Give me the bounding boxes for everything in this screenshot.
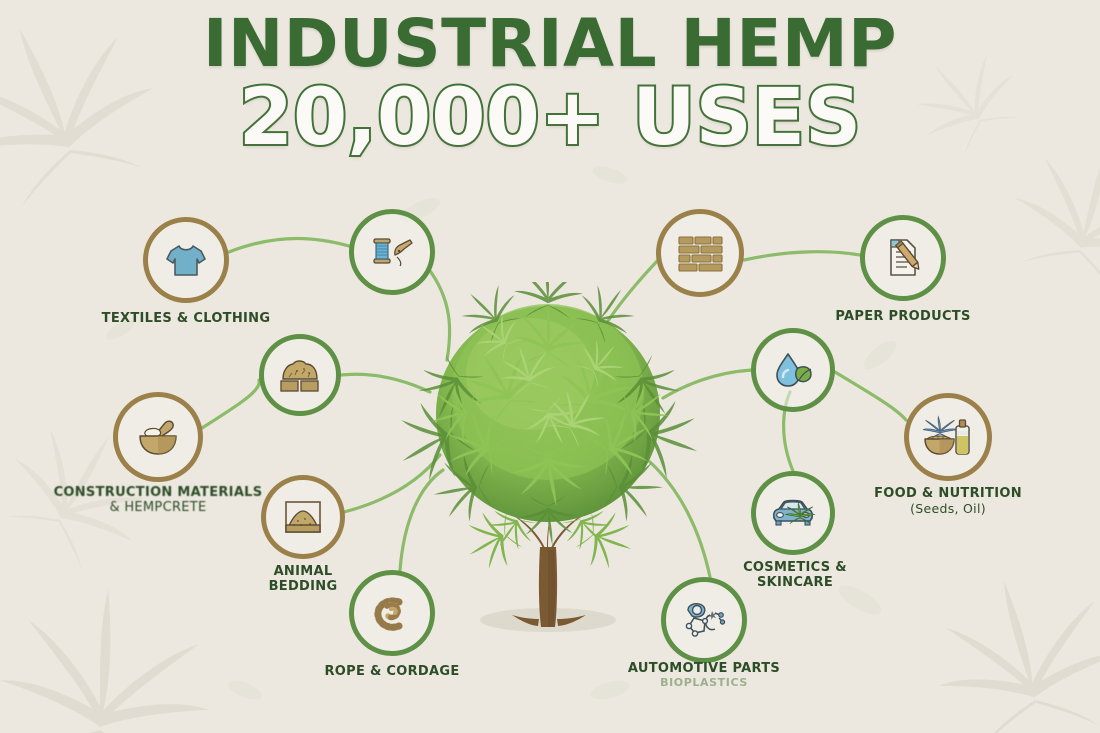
food-sublabel: (Seeds, Oil) xyxy=(828,502,1068,516)
automotive-label: AUTOMOTIVE PARTS BIOPLASTICS xyxy=(579,662,829,690)
water-drop-leaf-icon xyxy=(768,346,818,394)
textiles-label: TEXTILES & CLOTHING xyxy=(56,312,316,327)
rope-label: ROPE & CORDAGE xyxy=(277,665,507,680)
cosmetics-ring[interactable] xyxy=(751,471,835,555)
hempcrete-block-icon xyxy=(275,353,325,397)
paper-ring[interactable] xyxy=(860,215,946,301)
animal-bedding-ring[interactable] xyxy=(261,475,345,559)
title-block: INDUSTRIAL HEMP 20,000+ USES xyxy=(0,12,1100,157)
page-subtitle: 20,000+ USES xyxy=(0,79,1100,157)
brick-wall-icon xyxy=(674,231,726,275)
textiles-ring[interactable] xyxy=(143,217,229,303)
brick-ring[interactable] xyxy=(656,209,744,297)
thread-spool-needle-icon xyxy=(366,227,418,277)
mortar-pestle-icon xyxy=(131,412,185,462)
hempcrete-block-ring[interactable] xyxy=(259,334,341,416)
spool-ring[interactable] xyxy=(349,209,435,295)
car-leaf-icon xyxy=(767,491,819,535)
paper-pencil-icon xyxy=(877,233,929,283)
rope-ring[interactable] xyxy=(349,570,435,656)
waterdrop-ring[interactable] xyxy=(751,328,835,412)
page-title: INDUSTRIAL HEMP xyxy=(0,12,1100,77)
food-label: FOOD & NUTRITION (Seeds, Oil) xyxy=(828,487,1068,516)
bioplastic-molecule-icon xyxy=(678,595,730,645)
tshirt-icon xyxy=(161,235,211,285)
hemp-tree xyxy=(398,282,698,662)
infographic-canvas: TEXTILES & CLOTHING xyxy=(0,0,1100,733)
construction-ring[interactable] xyxy=(113,392,203,482)
cosmetics-label: COSMETICS & SKINCARE xyxy=(695,561,895,591)
construction-label: CONSTRUCTION MATERIALS & HEMPCRETE xyxy=(18,486,298,516)
rope-coil-icon xyxy=(367,588,417,638)
paper-label: PAPER PRODUCTS xyxy=(788,310,1018,325)
seed-bowl-oil-icon xyxy=(921,412,975,462)
construction-sublabel: & HEMPCRETE xyxy=(18,501,298,516)
bedding-tray-icon xyxy=(279,494,327,540)
automotive-sublabel: BIOPLASTICS xyxy=(579,677,829,690)
cosmetics-sublabel: SKINCARE xyxy=(695,576,895,591)
food-ring[interactable] xyxy=(904,393,992,481)
